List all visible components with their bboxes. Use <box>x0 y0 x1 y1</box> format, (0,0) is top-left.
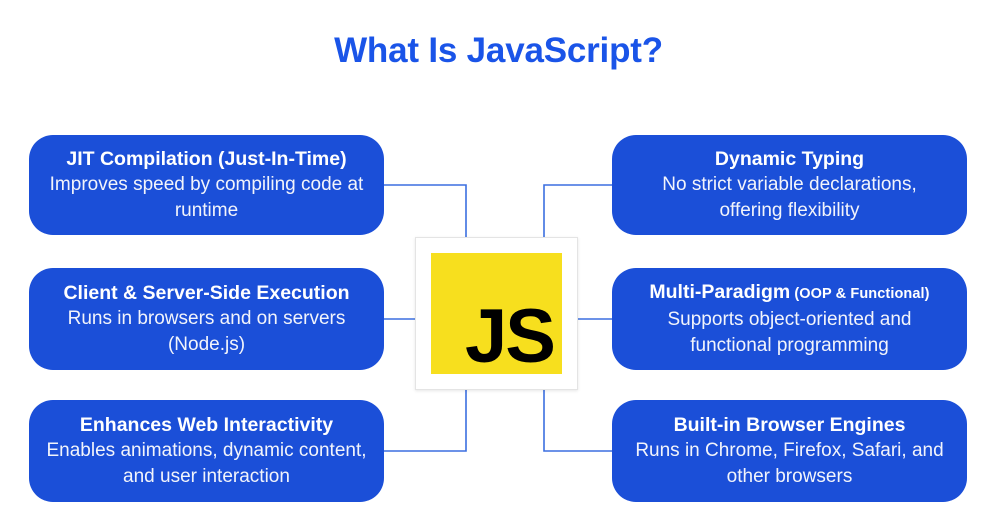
feature-title: Built-in Browser Engines <box>674 412 906 438</box>
javascript-logo-icon: JS <box>431 253 562 374</box>
feature-title: Client & Server-Side Execution <box>63 280 349 306</box>
feature-description: Supports object-oriented and functional … <box>630 307 950 359</box>
infographic-canvas: What Is JavaScript? JIT Compilation (Jus… <box>0 0 997 516</box>
feature-title-text: Multi-Paradigm <box>649 281 790 303</box>
feature-box-dynamic-typing[interactable]: Dynamic Typing No strict variable declar… <box>612 135 967 235</box>
feature-box-enhances-web-interactivity[interactable]: Enhances Web Interactivity Enables anima… <box>29 400 384 502</box>
feature-description: No strict variable declarations, offerin… <box>630 172 950 224</box>
feature-title-text: Dynamic Typing <box>715 148 864 170</box>
feature-title: Dynamic Typing <box>715 146 864 172</box>
feature-title: JIT Compilation (Just-In-Time) <box>66 146 346 172</box>
connector-right-top <box>544 185 612 237</box>
feature-title-text: JIT Compilation (Just-In-Time) <box>66 148 346 170</box>
feature-box-jit-compilation[interactable]: JIT Compilation (Just-In-Time) Improves … <box>29 135 384 235</box>
javascript-logo-letters: JS <box>465 292 554 374</box>
feature-title-text: Client & Server-Side Execution <box>63 282 349 304</box>
feature-title: Multi-Paradigm (OOP & Functional) <box>649 279 929 307</box>
feature-description: Runs in Chrome, Firefox, Safari, and oth… <box>630 438 950 490</box>
connector-left-bottom <box>384 390 466 451</box>
feature-description: Enables animations, dynamic content, and… <box>47 438 367 490</box>
feature-description: Runs in browsers and on servers (Node.js… <box>47 306 367 358</box>
feature-box-multi-paradigm[interactable]: Multi-Paradigm (OOP & Functional) Suppor… <box>612 268 967 370</box>
feature-box-built-in-browser-engines[interactable]: Built-in Browser Engines Runs in Chrome,… <box>612 400 967 502</box>
javascript-logo-card: JS <box>415 237 578 390</box>
feature-title-suffix: (OOP & Functional) <box>790 286 929 302</box>
feature-box-client-server-side-execution[interactable]: Client & Server-Side Execution Runs in b… <box>29 268 384 370</box>
connector-right-bottom <box>544 390 612 451</box>
feature-title-text: Enhances Web Interactivity <box>80 414 333 436</box>
connector-left-top <box>384 185 466 237</box>
feature-title-text: Built-in Browser Engines <box>674 414 906 436</box>
feature-description: Improves speed by compiling code at runt… <box>47 172 367 224</box>
feature-title: Enhances Web Interactivity <box>80 412 333 438</box>
